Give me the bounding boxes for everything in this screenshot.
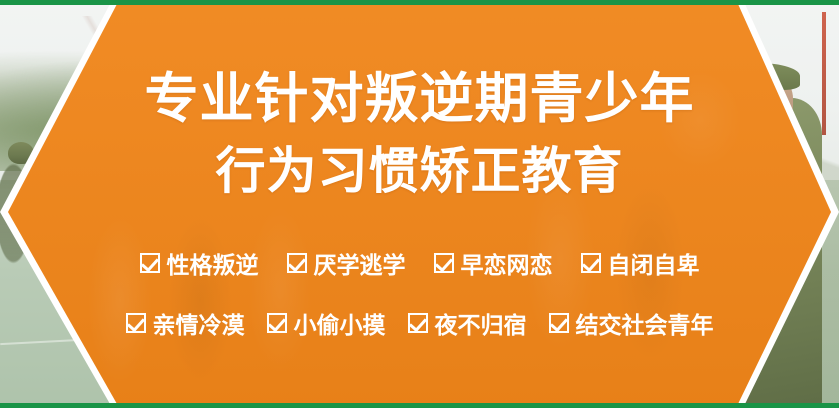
headline-line-1: 专业针对叛逆期青少年 <box>0 72 839 126</box>
checkmark-icon <box>549 313 569 333</box>
checklist-item[interactable]: 小偷小摸 <box>267 306 386 340</box>
banner-content: 专业针对叛逆期青少年 行为习惯矫正教育 性格叛逆 厌学逃学 早恋网恋 <box>0 0 839 408</box>
bottom-green-rule <box>0 403 839 408</box>
checkmark-icon <box>140 253 160 273</box>
checklist-item[interactable]: 亲情冷漠 <box>126 306 245 340</box>
checklist-item-label: 亲情冷漠 <box>153 306 245 340</box>
checklist-item[interactable]: 早恋网恋 <box>434 246 553 280</box>
checkmark-icon <box>434 253 454 273</box>
checklist-row-2: 亲情冷漠 小偷小摸 夜不归宿 结交社会青年 <box>0 300 839 346</box>
checklist-item[interactable]: 结交社会青年 <box>549 306 714 340</box>
checkmark-icon <box>126 313 146 333</box>
top-green-rule <box>0 0 839 5</box>
checkmark-icon <box>581 253 601 273</box>
checklist-item-label: 性格叛逆 <box>167 246 259 280</box>
symptom-checklist: 性格叛逆 厌学逃学 早恋网恋 自闭自卑 亲情冷漠 <box>0 240 839 346</box>
checklist-item-label: 自闭自卑 <box>608 246 700 280</box>
checklist-item-label: 早恋网恋 <box>461 246 553 280</box>
checklist-item-label: 厌学逃学 <box>314 246 406 280</box>
checklist-item[interactable]: 厌学逃学 <box>287 246 406 280</box>
checklist-item-label: 夜不归宿 <box>435 306 527 340</box>
checklist-item-label: 结交社会青年 <box>576 306 714 340</box>
promotional-banner: 专业针对叛逆期青少年 行为习惯矫正教育 性格叛逆 厌学逃学 早恋网恋 <box>0 0 839 408</box>
checkmark-icon <box>408 313 428 333</box>
checkmark-icon <box>287 253 307 273</box>
checklist-item-label: 小偷小摸 <box>294 306 386 340</box>
checklist-item[interactable]: 自闭自卑 <box>581 246 700 280</box>
headline-line-2: 行为习惯矫正教育 <box>0 146 839 196</box>
checklist-item[interactable]: 夜不归宿 <box>408 306 527 340</box>
checkmark-icon <box>267 313 287 333</box>
checklist-row-1: 性格叛逆 厌学逃学 早恋网恋 自闭自卑 <box>0 240 839 286</box>
checklist-item[interactable]: 性格叛逆 <box>140 246 259 280</box>
